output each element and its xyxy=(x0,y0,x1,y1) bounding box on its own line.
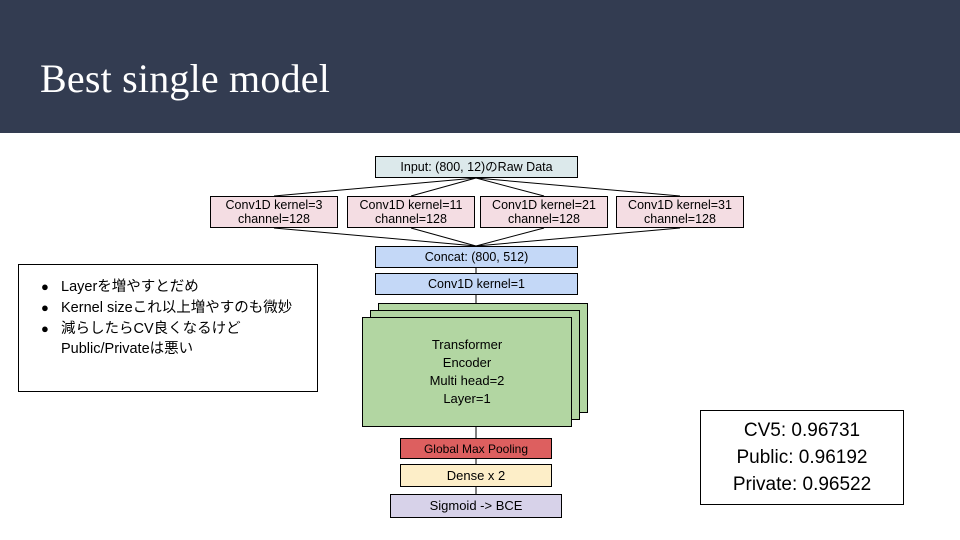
node-concat: Concat: (800, 512) xyxy=(375,246,578,268)
transformer-encoder-label: Transformer Encoder Multi head=2 Layer=1 xyxy=(362,317,572,427)
notes-box: ● Layerを増やすとだめ ● Kernel sizeこれ以上増やすのも微妙 … xyxy=(18,264,318,392)
node-conv1d-kernel-3: Conv1D kernel=3 channel=128 xyxy=(210,196,338,228)
node-conv1d-kernel-1: Conv1D kernel=1 xyxy=(375,273,578,295)
node-transformer-encoder-stack: Transformer Encoder Multi head=2 Layer=1 xyxy=(362,303,602,433)
list-item: ● 減らしたらCV良くなるけどPublic/Privateは悪い xyxy=(33,319,307,359)
edge-conv-k31-to-concat xyxy=(476,228,680,246)
node-conv1d-kernel-11: Conv1D kernel=11 channel=128 xyxy=(347,196,475,228)
node-global-max-pooling: Global Max Pooling xyxy=(400,438,552,459)
score-public: Public: 0.96192 xyxy=(737,444,868,471)
node-sigmoid-bce: Sigmoid -> BCE xyxy=(390,494,562,518)
list-item: ● Kernel sizeこれ以上増やすのも微妙 xyxy=(33,298,307,318)
edge-input-to-conv-k3 xyxy=(274,178,476,196)
note-text: Kernel sizeこれ以上増やすのも微妙 xyxy=(61,298,307,318)
node-dense: Dense x 2 xyxy=(400,464,552,487)
note-text: Layerを増やすとだめ xyxy=(61,277,307,297)
list-item: ● Layerを増やすとだめ xyxy=(33,277,307,297)
edge-input-to-conv-k31 xyxy=(476,178,680,196)
slide: Best single model Input: (800, 12)のRaw D… xyxy=(0,0,960,540)
node-input: Input: (800, 12)のRaw Data xyxy=(375,156,578,178)
score-private: Private: 0.96522 xyxy=(733,471,871,498)
score-box: CV5: 0.96731 Public: 0.96192 Private: 0.… xyxy=(700,410,904,505)
note-text: 減らしたらCV良くなるけどPublic/Privateは悪い xyxy=(61,319,307,359)
node-conv1d-kernel-21: Conv1D kernel=21 channel=128 xyxy=(480,196,608,228)
node-conv1d-kernel-31: Conv1D kernel=31 channel=128 xyxy=(616,196,744,228)
bullet-icon: ● xyxy=(33,319,61,339)
score-cv5: CV5: 0.96731 xyxy=(744,417,860,444)
edge-conv-k3-to-concat xyxy=(274,228,476,246)
bullet-icon: ● xyxy=(33,298,61,318)
bullet-icon: ● xyxy=(33,277,61,297)
